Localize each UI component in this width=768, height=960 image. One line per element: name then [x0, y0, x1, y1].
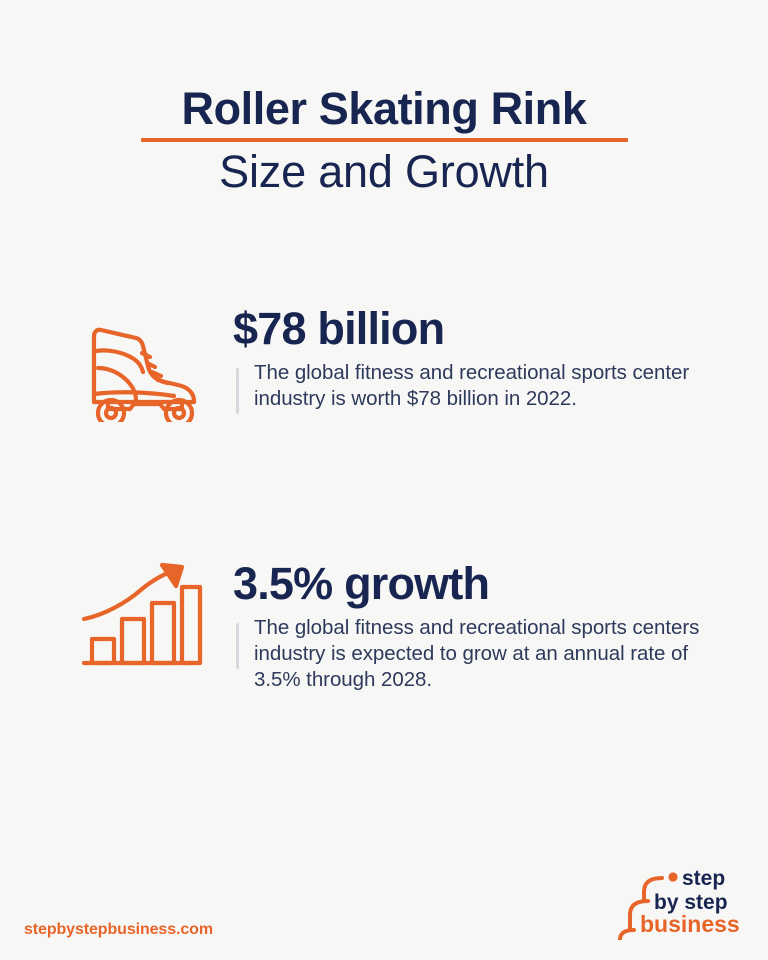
- stat-description-wrap: The global fitness and recreational spor…: [232, 360, 712, 412]
- stat-value: 3.5% growth: [233, 555, 712, 613]
- logo-line-3: business: [640, 911, 740, 937]
- title-underline: [141, 138, 628, 142]
- stat-value: $78 billion: [233, 300, 712, 358]
- stat-body: $78 billion The global fitness and recre…: [232, 300, 712, 412]
- stat-description-wrap: The global fitness and recreational spor…: [232, 615, 712, 693]
- stat-divider: [236, 368, 239, 414]
- stat-divider: [236, 623, 239, 669]
- roller-skate-icon: [78, 306, 204, 422]
- stat-description: The global fitness and recreational spor…: [254, 360, 712, 412]
- stat-row: 3.5% growth The global fitness and recre…: [0, 555, 768, 725]
- page-title: Roller Skating Rink: [176, 82, 593, 136]
- stat-description: The global fitness and recreational spor…: [254, 615, 712, 693]
- site-url[interactable]: stepbystepbusiness.com: [24, 921, 213, 939]
- step-by-step-business-logo[interactable]: step by step business: [618, 868, 748, 940]
- growth-chart-icon: [78, 561, 204, 677]
- page-subtitle: Size and Growth: [0, 144, 768, 200]
- stat-body: 3.5% growth The global fitness and recre…: [232, 555, 712, 693]
- infographic-page: Roller Skating Rink Size and Growth: [0, 0, 768, 960]
- logo-line-1: step: [682, 868, 725, 890]
- stat-row: $78 billion The global fitness and recre…: [0, 300, 768, 470]
- title-block: Roller Skating Rink Size and Growth: [0, 82, 768, 200]
